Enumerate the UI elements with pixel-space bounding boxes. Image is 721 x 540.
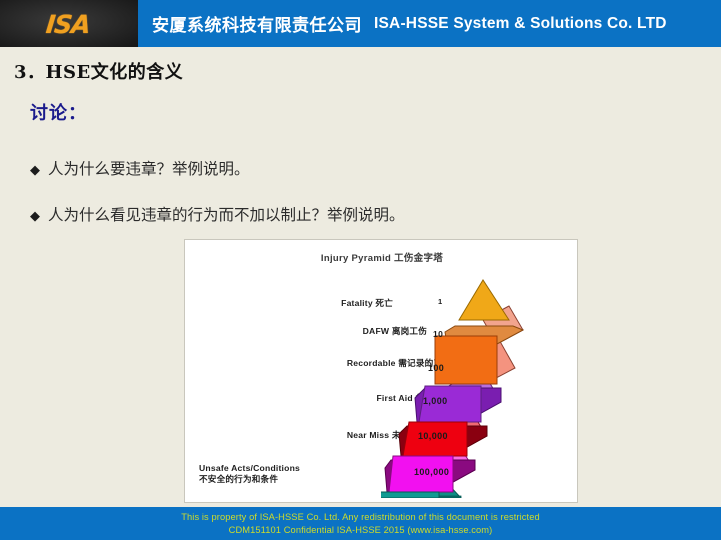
slide-header: ISA 安厦系统科技有限责任公司 ISA-HSSE System & Solut… (0, 0, 721, 47)
logo-block: ISA (0, 0, 138, 47)
pyramid-face-unsafe-acts (381, 492, 439, 498)
slide-footer: This is property of ISA-HSSE Co. Ltd. An… (0, 507, 721, 540)
footer-confidential-line: CDM151101 Confidential ISA-HSSE 2015 (ww… (229, 524, 493, 537)
pyramid-svg (381, 276, 571, 498)
isa-logo-icon: ISA (28, 9, 107, 39)
pyramid-face-dafw (435, 336, 497, 384)
footer-copyright-line: This is property of ISA-HSSE Co. Ltd. An… (181, 511, 540, 524)
pyramid-label-unsafe-acts: Unsafe Acts/Conditions 不安全的行为和条件 (199, 463, 300, 484)
bullet-text-1: 人为什么要违章？举例说明。 (48, 160, 250, 178)
pyramid-count-unsafe-acts: 100,000 (414, 467, 449, 477)
company-name-en: ISA-HSSE System & Solutions Co. LTD (374, 15, 667, 33)
header-title-bar: 安厦系统科技有限责任公司 ISA-HSSE System & Solutions… (138, 0, 721, 47)
pyramid-count-fatality: 1 (438, 297, 443, 306)
slide: ISA 安厦系统科技有限责任公司 ISA-HSSE System & Solut… (0, 0, 721, 540)
pyramid-count-first-aid: 1,000 (423, 396, 448, 406)
pyramid-count-near-miss: 10,000 (418, 431, 448, 441)
pyramid-count-dafw: 10 (433, 329, 443, 339)
pyramid-face-fatality (459, 280, 509, 320)
bullet-item-1: ◆人为什么要违章？举例说明。 (30, 157, 250, 179)
pyramid-title: Injury Pyramid 工伤金字塔 (185, 250, 578, 264)
diamond-bullet-icon: ◆ (30, 163, 40, 178)
company-name-cn: 安厦系统科技有限责任公司 (152, 11, 362, 36)
diamond-bullet-icon: ◆ (30, 209, 40, 224)
page-title: 3．HSE文化的含义 (14, 58, 183, 84)
pyramid-label-unsafe-acts-cn: 不安全的行为和条件 (199, 474, 278, 484)
bullet-text-2: 人为什么看见违章的行为而不加以制止？举例说明。 (48, 206, 405, 224)
pyramid-count-recordable: 100 (428, 363, 444, 373)
pyramid-graphic: Fatality 死亡 DAFW 离岗工伤 Recordable 需记录的工伤 … (185, 268, 578, 502)
bullet-item-2: ◆人为什么看见违章的行为而不加以制止？举例说明。 (30, 203, 405, 225)
pyramid-label-unsafe-acts-en: Unsafe Acts/Conditions (199, 463, 300, 473)
injury-pyramid-image: Injury Pyramid 工伤金字塔 Fatality 死亡 DAFW 离岗… (184, 239, 578, 503)
section-subhead: 讨论： (30, 99, 87, 125)
